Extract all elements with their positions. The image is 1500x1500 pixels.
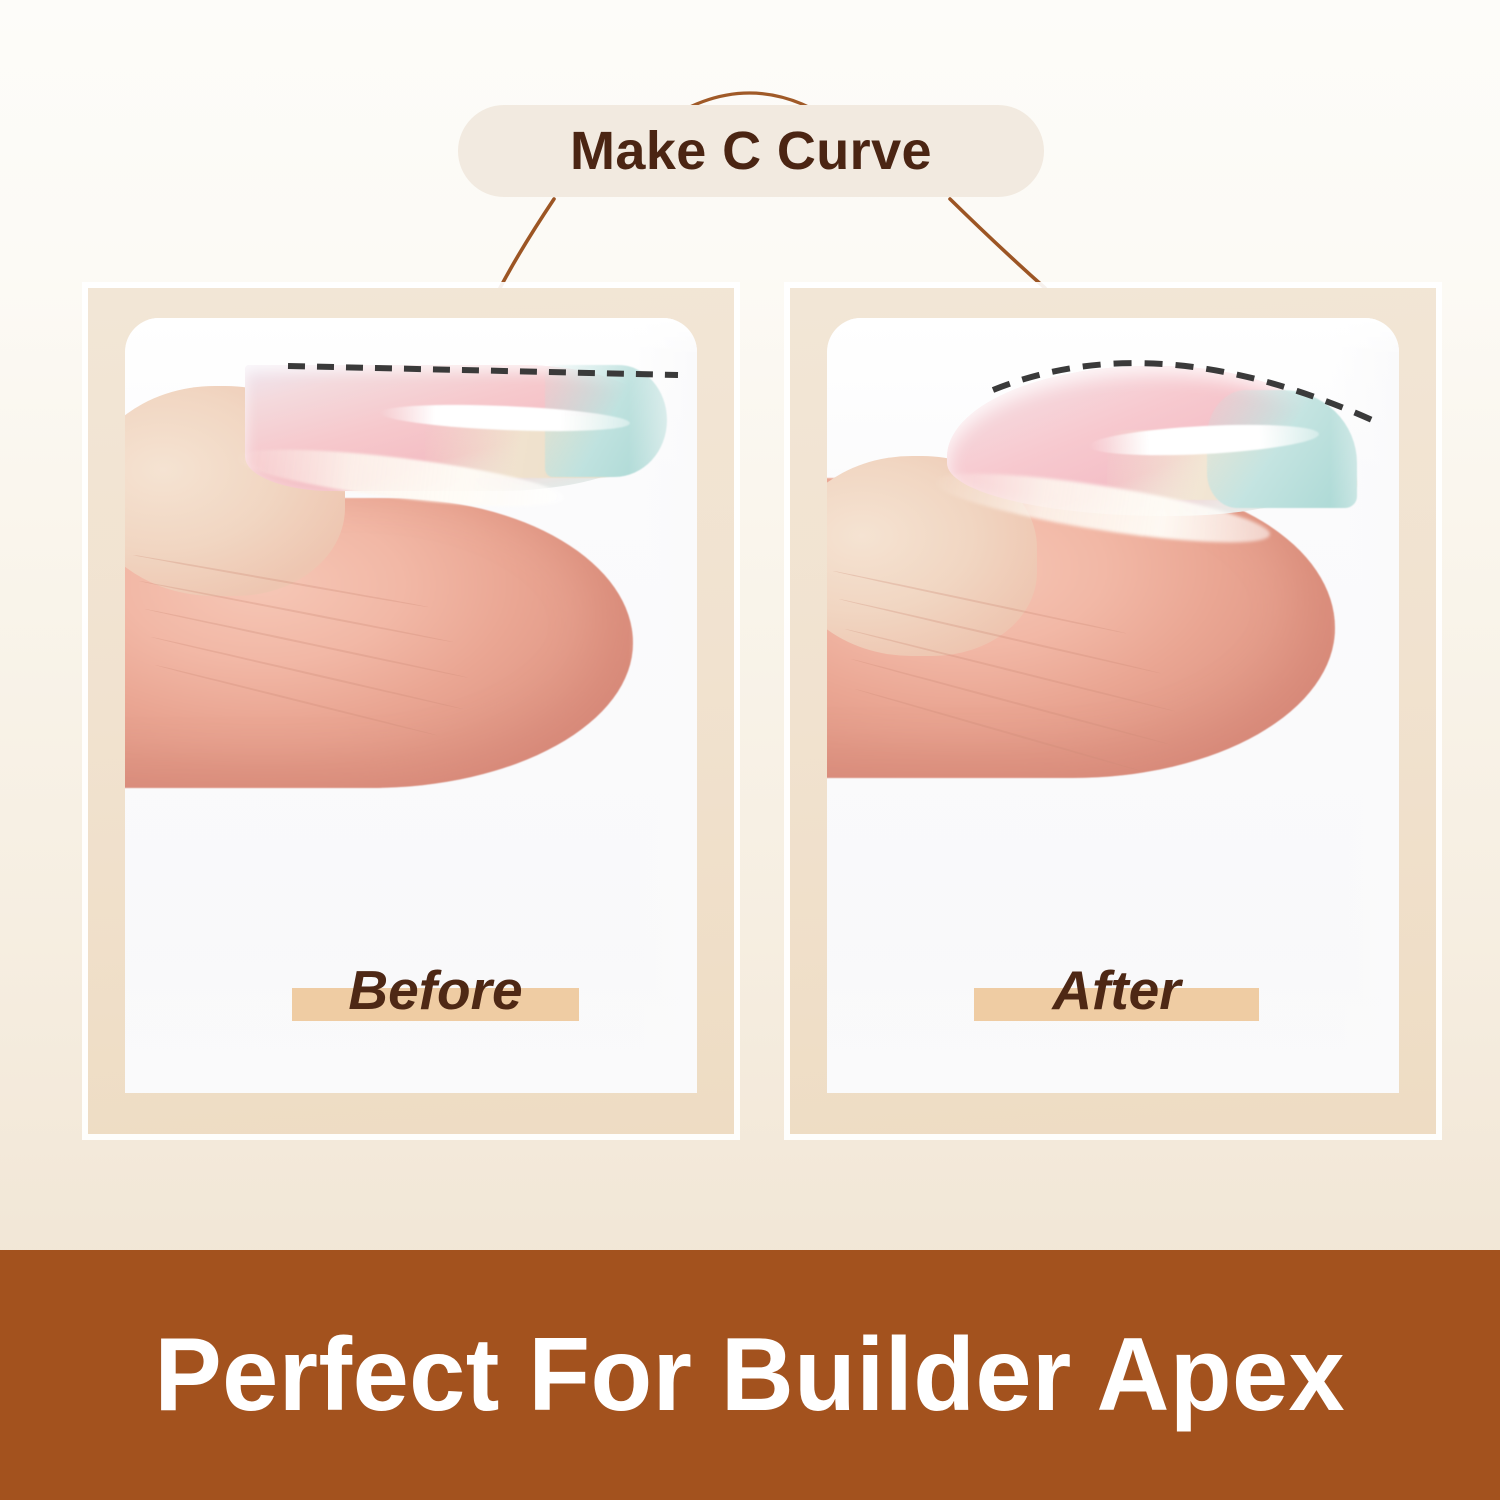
- banner-headline: Perfect For Builder Apex: [155, 1323, 1346, 1427]
- caption-before-label: Before: [348, 963, 522, 1018]
- page-title-pill: Make C Curve: [458, 105, 1044, 197]
- bottom-banner: Perfect For Builder Apex: [0, 1250, 1500, 1500]
- connector-line-right: [950, 199, 1045, 288]
- connector-line-left: [500, 199, 554, 288]
- caption-after-label: After: [1052, 963, 1180, 1018]
- page-title: Make C Curve: [570, 124, 932, 178]
- caption-before: Before: [292, 955, 579, 1025]
- caption-after: After: [974, 955, 1259, 1025]
- infographic-root: Make C Curve: [0, 0, 1500, 1500]
